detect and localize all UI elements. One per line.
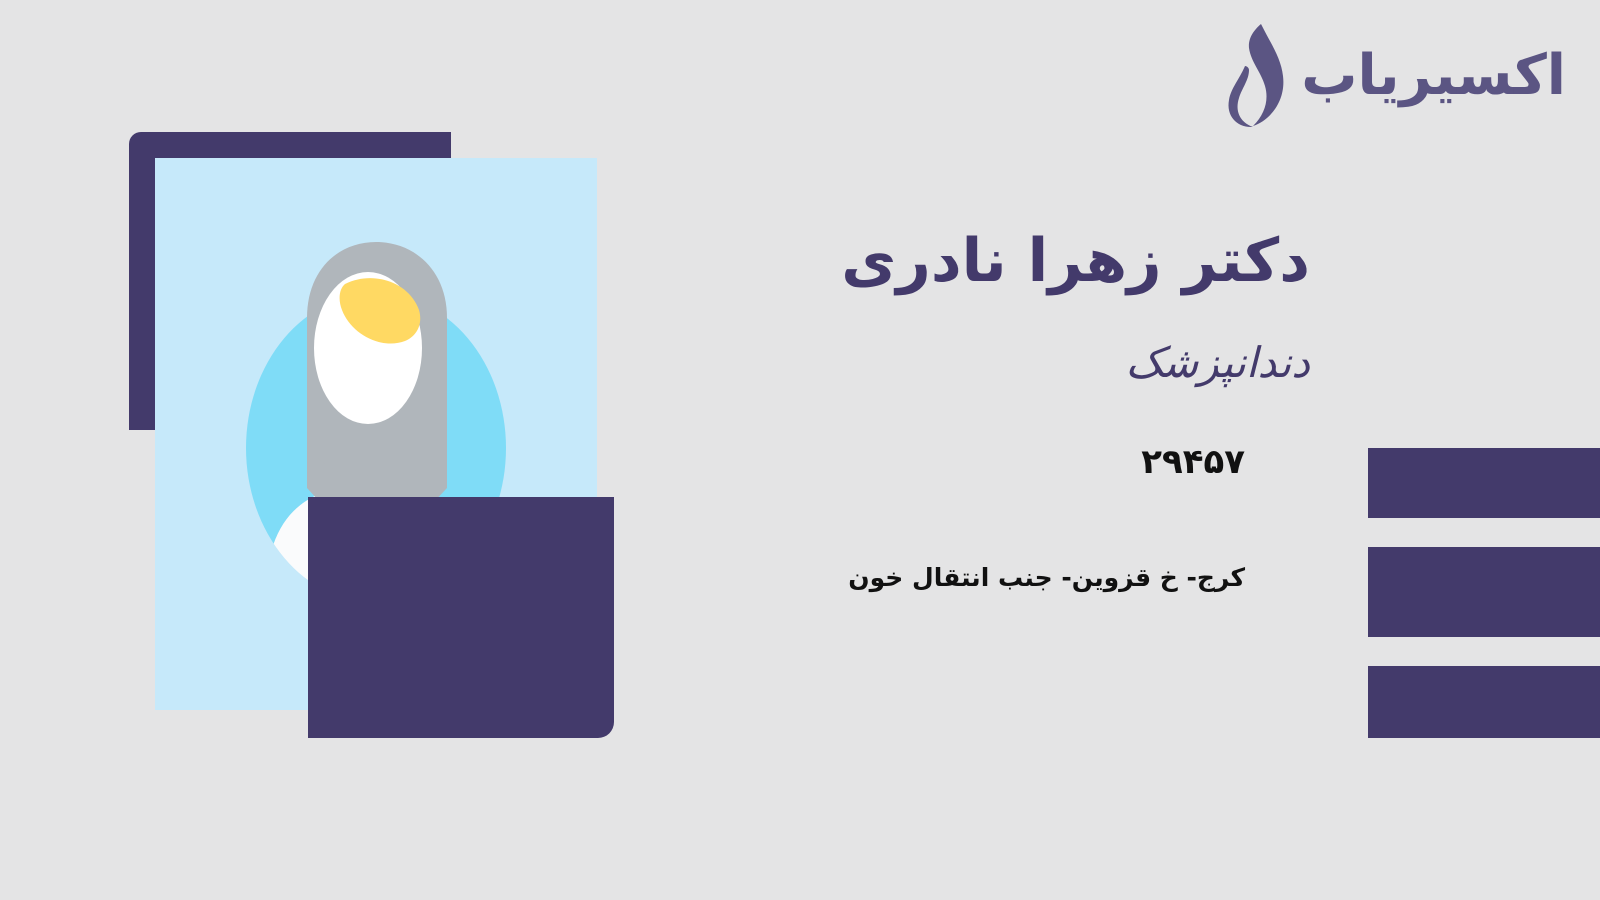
doctor-code: ۲۹۴۵۷ bbox=[1141, 442, 1245, 482]
doctor-info-panel: دکتر زهرا نادری دندانپزشک ۲۹۴۵۷ کرج- خ ق… bbox=[840, 0, 1600, 900]
doctor-profile-card: اکسیریاب bbox=[0, 0, 1600, 900]
doctor-name: دکتر زهرا نادری bbox=[841, 228, 1310, 294]
doctor-illustration bbox=[0, 0, 700, 900]
doctor-specialty: دندانپزشک bbox=[1126, 338, 1310, 388]
decor-square-front bbox=[308, 497, 614, 738]
doctor-address: کرج- خ قزوین- جنب انتقال خون bbox=[848, 563, 1245, 592]
decor-bar-3 bbox=[1368, 666, 1600, 738]
decor-bar-1 bbox=[1368, 448, 1600, 518]
decor-bar-2 bbox=[1368, 547, 1600, 637]
